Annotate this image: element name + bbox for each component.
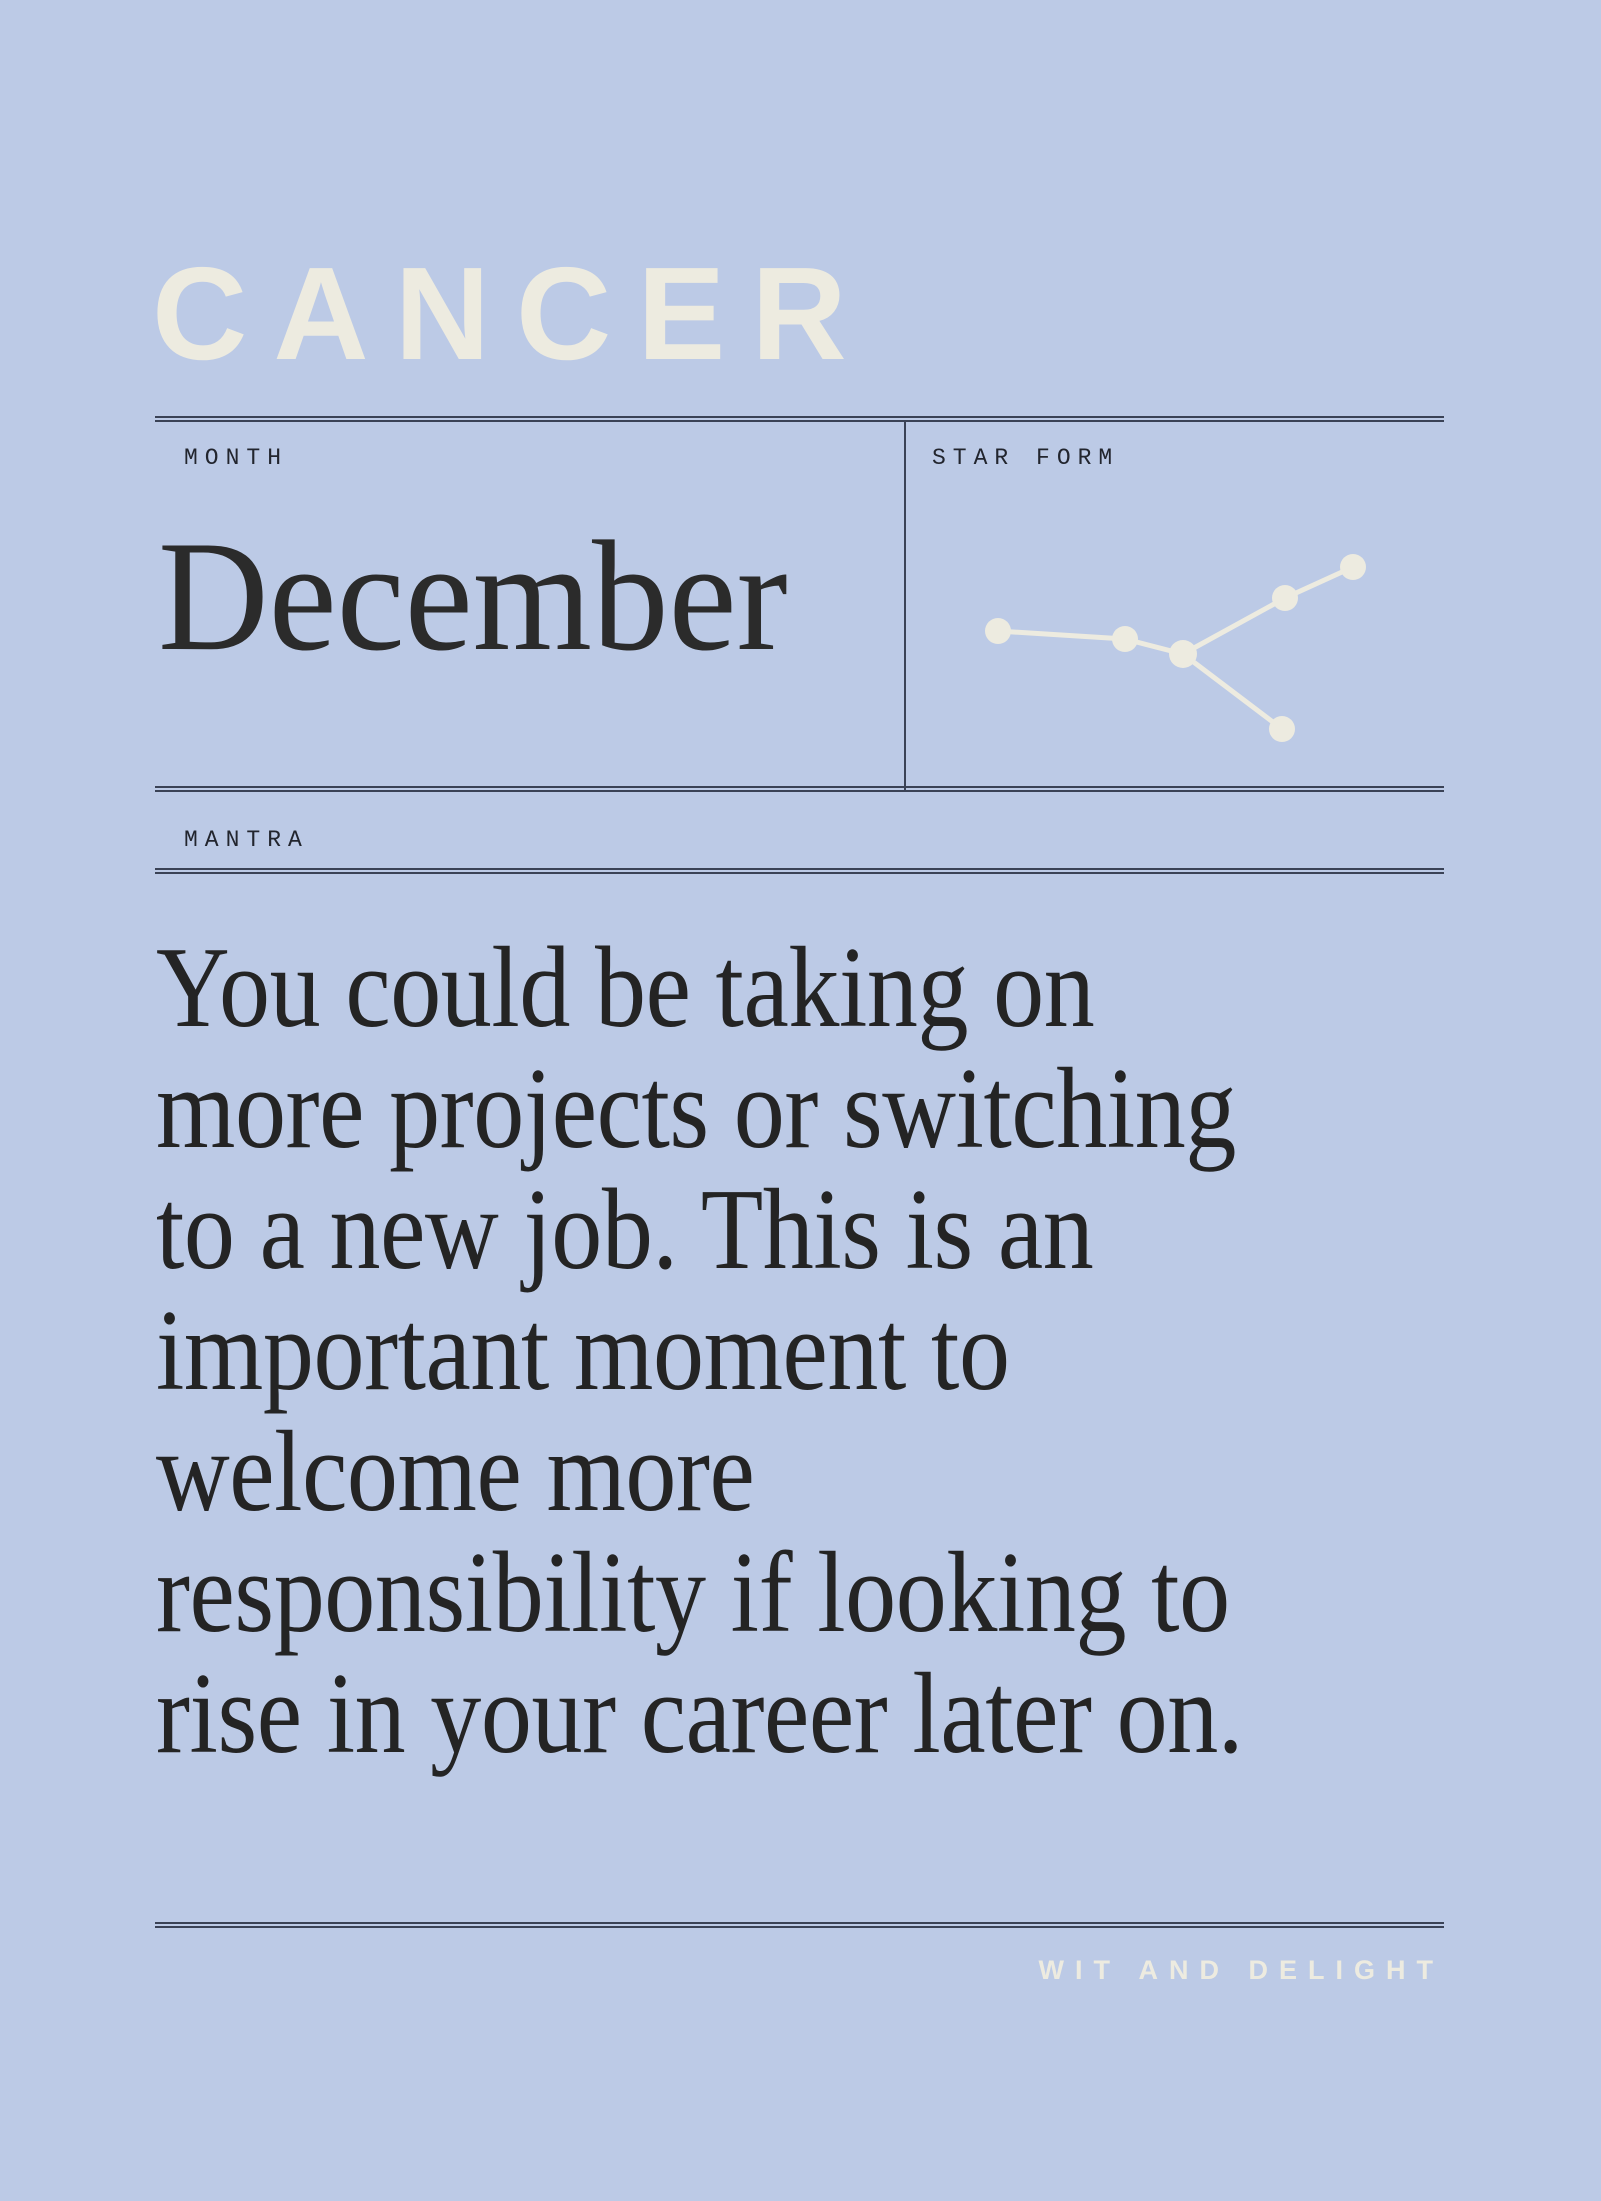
constellation-svg <box>906 420 1444 790</box>
constellation-star <box>985 618 1011 644</box>
constellation-star <box>1169 640 1197 668</box>
constellation-link <box>1183 654 1282 729</box>
field-label-month: MONTH <box>184 445 288 471</box>
divider-mantra <box>155 868 1444 874</box>
poster-canvas: CANCER MONTH STAR FORM December MANTRA Y… <box>0 0 1601 2201</box>
field-label-mantra: MANTRA <box>184 827 309 853</box>
mantra-body: You could be taking on more projects or … <box>156 928 1291 1775</box>
divider-footer <box>155 1922 1444 1928</box>
constellation-star <box>1112 626 1138 652</box>
constellation-star <box>1272 585 1298 611</box>
constellation-diagram <box>906 420 1444 790</box>
brand-wordmark: WIT AND DELIGHT <box>1039 1955 1444 1986</box>
constellation-link <box>998 631 1125 639</box>
constellation-link <box>1183 598 1285 654</box>
page-title: CANCER <box>152 248 873 380</box>
constellation-stars <box>985 554 1366 742</box>
constellation-star <box>1269 716 1295 742</box>
divider-mid <box>155 786 1444 792</box>
constellation-star <box>1340 554 1366 580</box>
month-value: December <box>158 518 788 676</box>
